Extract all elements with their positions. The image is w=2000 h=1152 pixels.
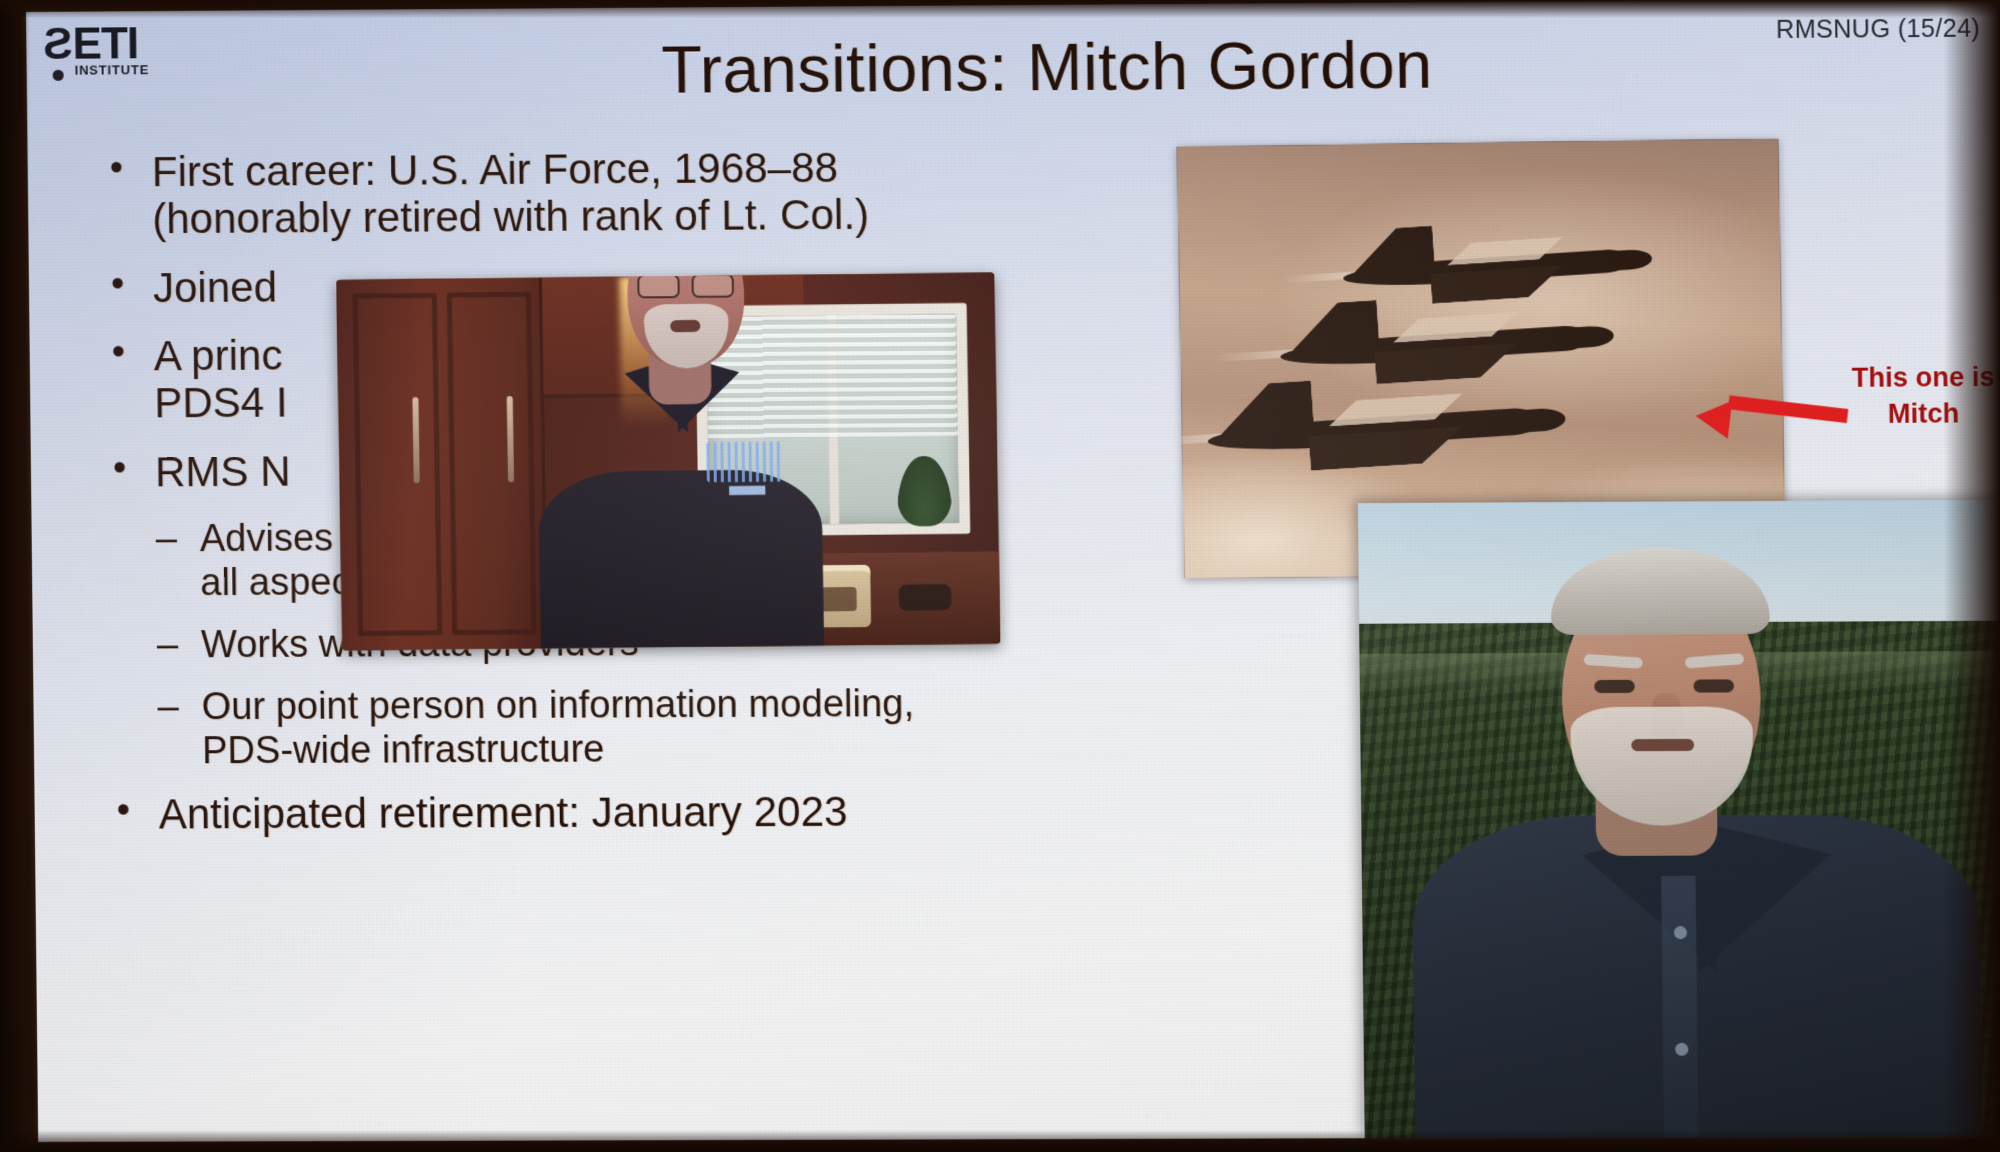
portrait-shirt-placket: [1661, 876, 1698, 1138]
arrow-head: [1694, 397, 1732, 439]
overlay-shirt-logo-subtext: [729, 486, 765, 495]
overlay-beard: [644, 304, 729, 369]
video-call-overlay[interactable]: [336, 272, 1000, 650]
sub-bullet-line-1: Our point person on information modeling…: [201, 683, 914, 728]
overlay-plant: [897, 456, 952, 527]
bullet-line-2: (honorably retired with rank of Lt. Col.…: [152, 192, 1169, 241]
portrait-eye-left: [1594, 680, 1635, 693]
glasses-icon: [637, 273, 734, 296]
bullet-line-1: Anticipated retirement: January 2023: [158, 788, 847, 838]
portrait-collar-right: [1697, 821, 1832, 972]
overlay-kitchen-cabinet-left: [336, 278, 548, 651]
overlay-object: [899, 584, 952, 611]
sub-bullet-line-2: PDS-wide infrastructure: [202, 728, 1175, 772]
portrait-shirt-button: [1675, 1043, 1688, 1056]
red-arrow-icon: [1695, 394, 1847, 441]
overlay-polo-shirt: [538, 469, 824, 648]
portrait-shirt-button: [1674, 926, 1687, 939]
photo-edge-left: [0, 0, 30, 1152]
annotation-line-1: This one is: [1842, 359, 2000, 397]
bullet-line-1: RMS N: [155, 448, 291, 496]
slide-title: Transitions: Mitch Gordon: [26, 22, 2000, 112]
arrow-shaft: [1728, 395, 1848, 423]
mitch-gordon-portrait-photo: [1358, 500, 2000, 1138]
annotation-line-2: Mitch: [1842, 396, 2000, 434]
bullet-item-retirement: Anticipated retirement: January 2023: [110, 790, 1175, 837]
arrow-annotation-label: This one is Mitch: [1842, 359, 2000, 433]
portrait-torso: [1412, 814, 1982, 1138]
overlay-mouth: [670, 320, 700, 332]
overlay-head: [626, 272, 745, 366]
portrait-mouth: [1631, 739, 1694, 751]
projected-slide-photograph: SETI INSTITUTE RMSNUG (15/24) Transition…: [0, 0, 2000, 1152]
sub-bullet-item: Our point person on information modeling…: [155, 684, 1175, 772]
bullet-item: First career: U.S. Air Force, 1968–88 (h…: [104, 145, 1170, 242]
bullet-line-1: A princ: [154, 332, 283, 380]
portrait-eye-right: [1693, 679, 1734, 692]
overlay-person: [536, 345, 824, 649]
presentation-slide: SETI INSTITUTE RMSNUG (15/24) Transition…: [26, 0, 2000, 1142]
bullet-line-1: Joined: [153, 263, 277, 311]
overlay-shirt-logo: [706, 441, 783, 482]
bullet-line-1: First career: U.S. Air Force, 1968–88: [152, 144, 839, 195]
